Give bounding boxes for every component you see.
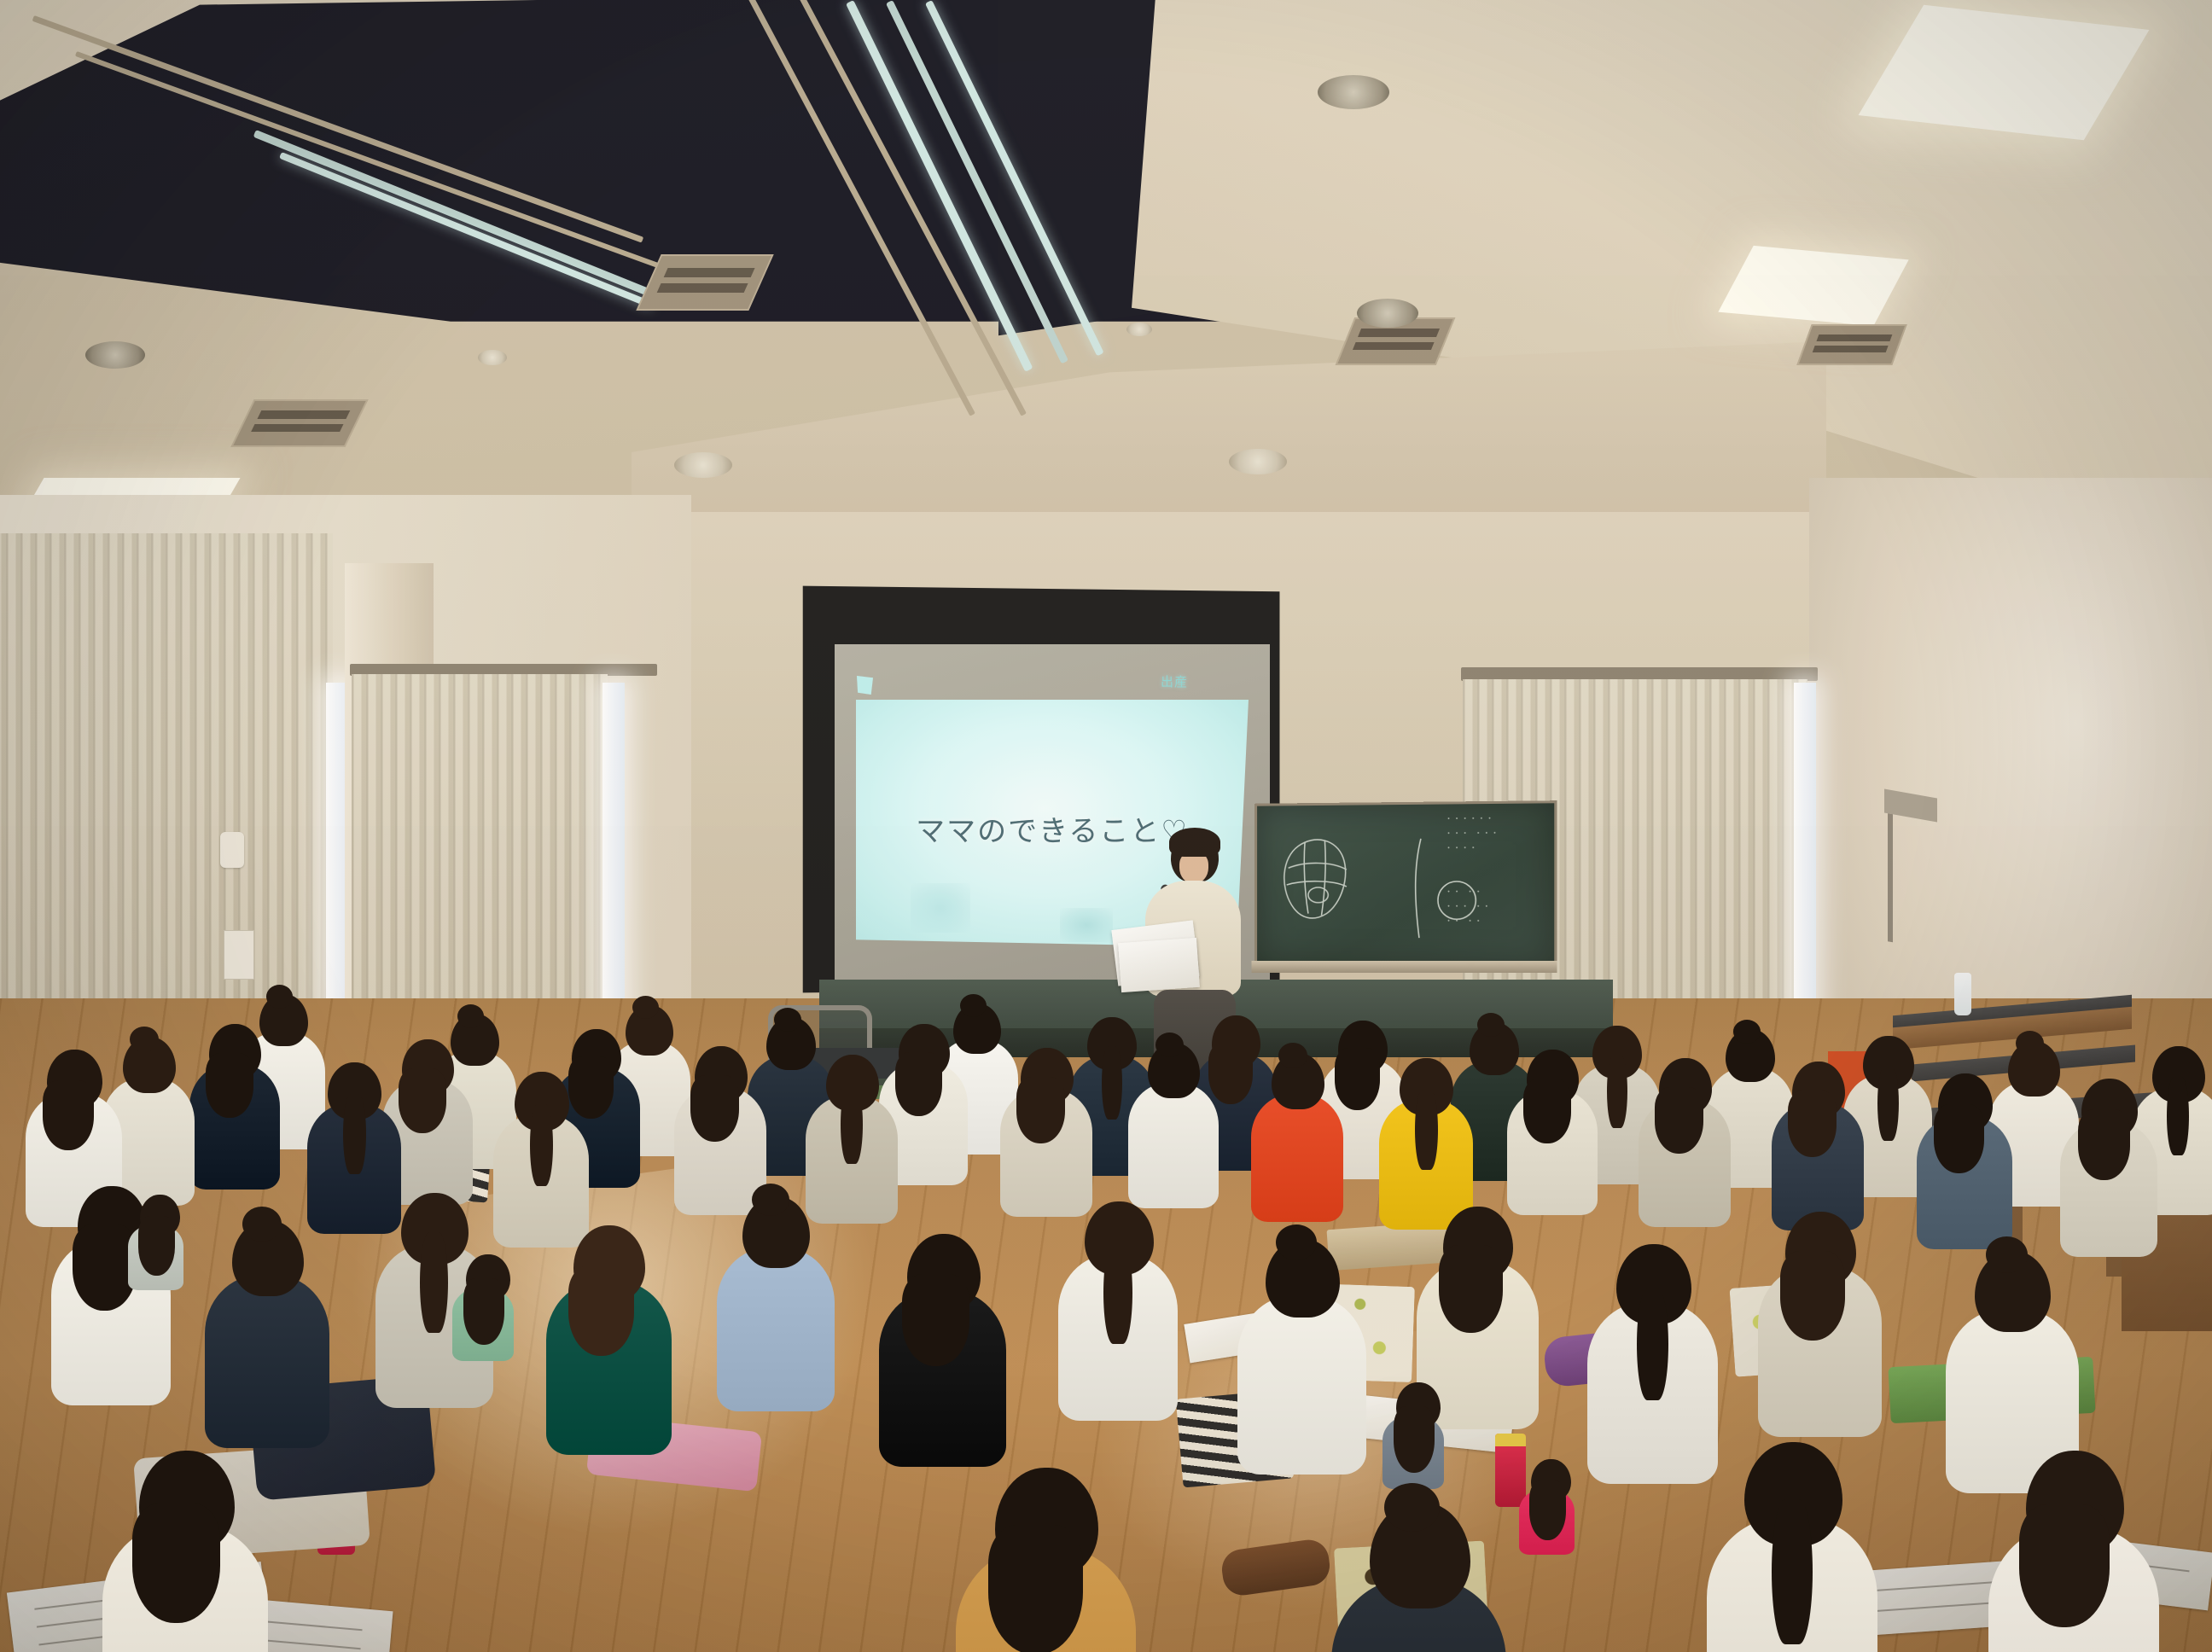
chalk-note-line: ・・ ・・ <box>1445 886 1549 900</box>
figure-long-hair <box>690 1075 739 1142</box>
figure-long-hair <box>1655 1087 1703 1154</box>
figure-long-hair <box>73 1224 137 1311</box>
handout-papers <box>1118 938 1200 992</box>
figure-long-hair <box>132 1504 220 1623</box>
figure-ponytail <box>343 1094 366 1174</box>
figure-torso <box>1251 1094 1343 1222</box>
figure-hair-bun <box>1278 1043 1307 1068</box>
figure-long-hair <box>988 1525 1083 1652</box>
figure-ponytail <box>1607 1055 1627 1128</box>
figure-hair-bun <box>774 1008 801 1032</box>
figure-hair-bun <box>1384 1483 1440 1532</box>
figure-long-hair <box>399 1068 446 1133</box>
figure-ponytail <box>1772 1499 1813 1644</box>
photo-scene: 出産 ママのできること♡ ・・・・・・ ・・・ ・・・ <box>0 0 2212 1652</box>
ceiling-air-vent <box>230 399 368 447</box>
figure-long-hair <box>568 1265 634 1356</box>
light-switch-plate <box>224 930 254 980</box>
figure-hair-bun <box>632 996 659 1019</box>
figure-hair-bun <box>1276 1224 1317 1260</box>
slide-thumbnail-icon <box>857 676 873 695</box>
intercom-panel <box>220 832 244 868</box>
figure-long-hair <box>1439 1245 1503 1333</box>
presenter-hair-front <box>1169 828 1220 857</box>
figure-long-hair <box>902 1274 969 1366</box>
figure-ponytail <box>2167 1077 2189 1155</box>
figure-long-hair <box>568 1056 614 1119</box>
slide-ghost-graphic <box>911 883 970 933</box>
figure-long-hair <box>1523 1079 1571 1143</box>
ceiling-downlight <box>674 452 732 478</box>
chalk-note-line: ・・ ・・ <box>1445 916 1549 931</box>
ceiling-downlight <box>85 341 145 369</box>
figure-hair-bun <box>1155 1032 1184 1057</box>
slide-ghost-graphic <box>1060 908 1113 942</box>
ceiling-downlight <box>1229 449 1287 474</box>
figure-ponytail <box>1102 1046 1122 1120</box>
figure-torso <box>717 1248 835 1411</box>
figure-long-hair <box>1934 1104 1984 1173</box>
chalkboard: ・・・・・・ ・・・ ・・・ ・・・・ ・・ ・・ ・・・ ・・ ・・ ・・ <box>1254 800 1557 969</box>
figure-long-hair <box>895 1052 942 1116</box>
figure-long-hair <box>1208 1043 1253 1104</box>
figure-long-hair <box>2019 1504 2110 1627</box>
chalkboard-notes: ・・・・・・ ・・・ ・・・ ・・・・ ・・ ・・ ・・・ ・・ ・・ ・・ <box>1445 811 1549 930</box>
ceiling-downlight <box>478 350 507 365</box>
clear-water-bottle <box>1954 973 1971 1015</box>
figure-ponytail <box>1415 1090 1438 1170</box>
figure-long-hair <box>1780 1251 1845 1341</box>
figure-hair-bun <box>266 985 293 1009</box>
ceiling-downlight <box>1318 75 1389 109</box>
chalk-tray <box>1251 961 1557 973</box>
figure-hair-bun <box>130 1027 159 1052</box>
figure-hair-bun <box>1986 1236 2028 1273</box>
figure-long-hair <box>1529 1480 1566 1540</box>
slide-corner-label: 出産 <box>1161 672 1188 690</box>
figure-ponytail <box>1103 1242 1132 1344</box>
pink-water-bottle <box>1495 1434 1526 1507</box>
figure-hair-bun <box>457 1004 484 1028</box>
chalk-note-line: ・・・・ <box>1445 841 1549 857</box>
figure-ponytail <box>420 1232 448 1333</box>
figure-ponytail <box>1877 1066 1899 1141</box>
chalk-note-line: ・・・・・・ <box>1445 811 1549 827</box>
ceiling-downlight <box>1357 299 1418 328</box>
figure-long-hair <box>1016 1077 1065 1143</box>
figure-long-hair <box>463 1278 504 1345</box>
chalk-note-line: ・・・ ・・ <box>1445 900 1549 916</box>
figure-torso <box>205 1275 329 1448</box>
figure-long-hair <box>43 1080 94 1150</box>
figure-hair-bun <box>960 994 987 1017</box>
figure-ponytail <box>530 1104 553 1186</box>
figure-long-hair <box>1394 1406 1435 1473</box>
figure-torso <box>1128 1083 1219 1208</box>
figure-hair-bun <box>752 1184 789 1216</box>
figure-long-hair <box>2078 1109 2130 1180</box>
ceiling-air-vent <box>1796 324 1906 365</box>
figure-hair-bun <box>1733 1020 1761 1044</box>
figure-hair-bun <box>2016 1031 2044 1056</box>
figure-long-hair <box>1788 1091 1837 1157</box>
figure-long-hair <box>1335 1048 1380 1110</box>
ceiling-downlight <box>1126 323 1152 336</box>
bottle-cap <box>1495 1434 1526 1446</box>
chalk-note-line: ・・・ ・・・ <box>1445 827 1549 842</box>
figure-long-hair <box>206 1053 253 1118</box>
figure-long-hair <box>138 1216 175 1276</box>
figure-hair-bun <box>1477 1013 1505 1037</box>
figure-ponytail <box>841 1085 863 1164</box>
figure-ponytail <box>1637 1288 1668 1400</box>
figure-hair-bun <box>242 1207 282 1242</box>
figure-torso <box>1237 1295 1366 1475</box>
